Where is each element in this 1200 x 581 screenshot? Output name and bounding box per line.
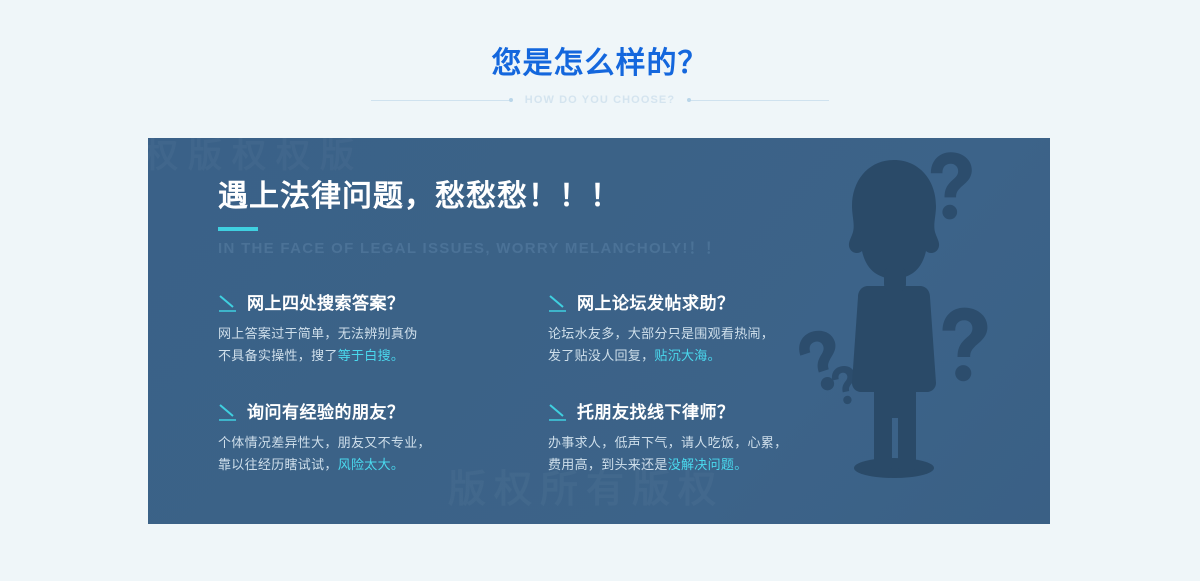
issue-heading: 网上四处搜索答案？: [218, 294, 548, 314]
issue-body-highlight: 贴沉大海: [654, 348, 707, 363]
issue-body-highlight: 风险太大: [338, 457, 391, 472]
issue-title: 网上论坛发帖求助？: [577, 294, 735, 314]
issue-title: 网上四处搜索答案？: [247, 294, 405, 314]
list-item[interactable]: 网上论坛发帖求助？ 论坛水友多，大部分只是围观看热闹， 发了贴没人回复，贴沉大海…: [548, 294, 878, 367]
issue-body-line2: 不具备实操性，搜了等于白搜。: [218, 345, 548, 367]
list-item[interactable]: 托朋友找线下律师？ 办事求人，低声下气，请人吃饭，心累， 费用高，到头来还是没解…: [548, 403, 878, 476]
section-header: 您是怎么样的？ HOW DO YOU CHOOSE?: [0, 44, 1200, 106]
issue-body-line2: 费用高，到头来还是没解决问题。: [548, 454, 878, 476]
diagonal-arrow-icon: [218, 404, 238, 422]
issue-body-line2-tail: 。: [391, 457, 404, 472]
issue-title: 托朋友找线下律师？: [577, 403, 735, 423]
issue-body-line2: 靠以往经历瞎试试，风险太大。: [218, 454, 548, 476]
diagonal-arrow-icon: [548, 295, 568, 313]
issue-body-line1: 办事求人，低声下气，请人吃饭，心累，: [548, 432, 878, 454]
list-item[interactable]: 网上四处搜索答案？ 网上答案过于简单，无法辨别真伪 不具备实操性，搜了等于白搜。: [218, 294, 548, 367]
issue-body-line1: 个体情况差异性大，朋友又不专业，: [218, 432, 548, 454]
issue-body-line2-tail: 。: [734, 457, 747, 472]
page-root: 您是怎么样的？ HOW DO YOU CHOOSE? 权版权权版 版权所有版权: [0, 0, 1200, 581]
page-subtitle: HOW DO YOU CHOOSE?: [525, 94, 675, 106]
issue-body-line2-plain: 不具备实操性，搜了: [218, 348, 338, 363]
issue-body-line1: 论坛水友多，大部分只是围观看热闹，: [548, 323, 878, 345]
subtitle-row: HOW DO YOU CHOOSE?: [0, 94, 1200, 106]
issue-body: 论坛水友多，大部分只是围观看热闹， 发了贴没人回复，贴沉大海。: [548, 323, 878, 367]
issue-body: 网上答案过于简单，无法辨别真伪 不具备实操性，搜了等于白搜。: [218, 323, 548, 367]
issue-body-line2-plain: 发了贴没人回复，: [548, 348, 654, 363]
issue-heading: 网上论坛发帖求助？: [548, 294, 878, 314]
diagonal-arrow-icon: [548, 404, 568, 422]
divider-line-right: [689, 100, 829, 101]
issue-body-line2-plain: 靠以往经历瞎试试，: [218, 457, 338, 472]
panel-header: 遇上法律问题，愁愁愁！！！ IN THE FACE OF LEGAL ISSUE…: [148, 138, 1050, 260]
issue-list: 网上四处搜索答案？ 网上答案过于简单，无法辨别真伪 不具备实操性，搜了等于白搜。…: [218, 294, 918, 476]
issue-body: 办事求人，低声下气，请人吃饭，心累， 费用高，到头来还是没解决问题。: [548, 432, 878, 476]
divider-dot-right: [687, 98, 691, 102]
divider-line-left: [371, 100, 511, 101]
issue-heading: 询问有经验的朋友？: [218, 403, 548, 423]
panel-title: 遇上法律问题，愁愁愁！！！: [218, 178, 1050, 216]
issue-body-highlight: 等于白搜: [338, 348, 391, 363]
panel-subtitle: IN THE FACE OF LEGAL ISSUES, WORRY MELAN…: [218, 238, 1050, 260]
divider-dot-left: [509, 98, 513, 102]
issue-title: 询问有经验的朋友？: [247, 403, 405, 423]
issue-body-line2-tail: 。: [391, 348, 404, 363]
issue-body-line2-plain: 费用高，到头来还是: [548, 457, 668, 472]
accent-bar: [218, 227, 258, 231]
issue-body-highlight: 没解决问题: [668, 457, 735, 472]
content-panel: 权版权权版 版权所有版权: [148, 138, 1050, 524]
list-item[interactable]: 询问有经验的朋友？ 个体情况差异性大，朋友又不专业， 靠以往经历瞎试试，风险太大…: [218, 403, 548, 476]
issue-body-line1: 网上答案过于简单，无法辨别真伪: [218, 323, 548, 345]
issue-body-line2-tail: 。: [708, 348, 721, 363]
diagonal-arrow-icon: [218, 295, 238, 313]
issue-body-line2: 发了贴没人回复，贴沉大海。: [548, 345, 878, 367]
page-title: 您是怎么样的？: [0, 44, 1200, 84]
issue-heading: 托朋友找线下律师？: [548, 403, 878, 423]
issue-body: 个体情况差异性大，朋友又不专业， 靠以往经历瞎试试，风险太大。: [218, 432, 548, 476]
